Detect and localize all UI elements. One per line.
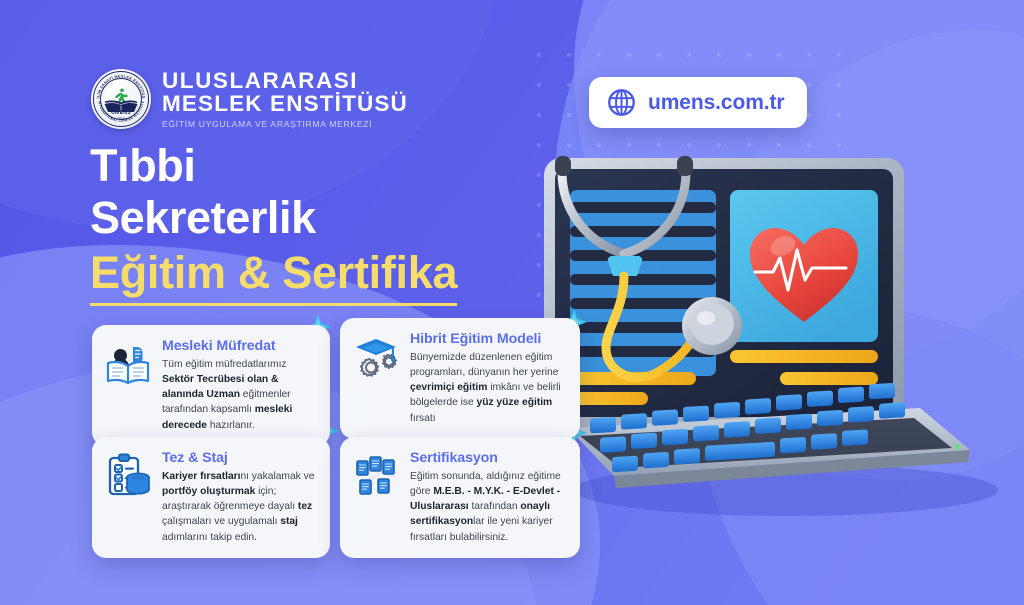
database-stack (127, 473, 149, 493)
laptop-stethoscope-heart-illustration (528, 150, 1018, 540)
brand-name-block: ULUSLARARASI MESLEK ENSTİTÜSÜ EĞİTİM UYG… (162, 68, 408, 129)
feature-card-mesleki-mufredat[interactable]: Mesleki Müfredat Tüm eğitim müfredatları… (92, 325, 330, 446)
brand-name-line1: ULUSLARARASI (162, 69, 408, 92)
documents-network-icon (353, 453, 399, 499)
graduation-cap-gears-icon (353, 334, 399, 380)
person-reading-book-icon (105, 341, 151, 387)
card-title: Mesleki Müfredat (162, 338, 316, 354)
feature-card-sertifikasyon[interactable]: Sertifikasyon Eğitim sonunda, aldığınız … (340, 437, 580, 558)
feature-card-hibrit-egitim-modeli[interactable]: Hibrit Eğitim Modeli Bünyemizde düzenlen… (340, 318, 580, 439)
headline-accent: Eğitim & Sertifika (90, 246, 457, 306)
brand-tagline: EĞİTİM UYGULAMA VE ARAŞTIRMA MERKEZİ (162, 119, 408, 129)
card-text: Bünyemizde düzenlenen eğitim programları… (410, 350, 566, 426)
headline-line-1: Tıbbi (90, 140, 457, 192)
svg-text:BİLİM SANAYİ MESLEK ENSTİTÜSÜ: BİLİM SANAYİ MESLEK ENSTİTÜSÜ (93, 71, 146, 99)
screen-left-content (570, 190, 716, 405)
svg-text:INTERNATIONAL CAREER INSTITUTE: INTERNATIONAL CAREER INSTITUTE (97, 100, 145, 123)
screen-right-content (730, 190, 878, 385)
headline-line-2: Sekreterlik (90, 192, 457, 244)
card-text: Kariyer fırsatlarını yakalamak ve portfö… (162, 469, 316, 545)
card-text: Tüm eğitim müfredatlarımız Sektör Tecrüb… (162, 357, 316, 433)
feature-card-tez-staj[interactable]: Tez & Staj Kariyer fırsatlarını yakalama… (92, 437, 330, 558)
card-title: Tez & Staj (162, 450, 316, 466)
page-title: Tıbbi Sekreterlik Eğitim & Sertifika (90, 140, 457, 306)
website-badge[interactable]: umens.com.tr (589, 77, 807, 128)
card-title: Hibrit Eğitim Modeli (410, 331, 566, 347)
globe-icon (607, 88, 636, 117)
seal-arc-text: BİLİM SANAYİ MESLEK ENSTİTÜSÜ INTERNATIO… (93, 71, 149, 127)
card-title: Sertifikasyon (410, 450, 566, 466)
brand-logo: UMENS 2014 BİLİM SANAYİ MESLEK ENSTİTÜSÜ… (91, 68, 408, 129)
clipboard-checklist-database-icon (105, 453, 151, 499)
website-url: umens.com.tr (648, 91, 785, 115)
umens-circular-seal-logo: UMENS 2014 BİLİM SANAYİ MESLEK ENSTİTÜSÜ… (91, 69, 151, 129)
card-text: Eğitim sonunda, aldığınız eğitime göre M… (410, 469, 566, 545)
brand-name-line2: MESLEK ENSTİTÜSÜ (162, 92, 408, 116)
